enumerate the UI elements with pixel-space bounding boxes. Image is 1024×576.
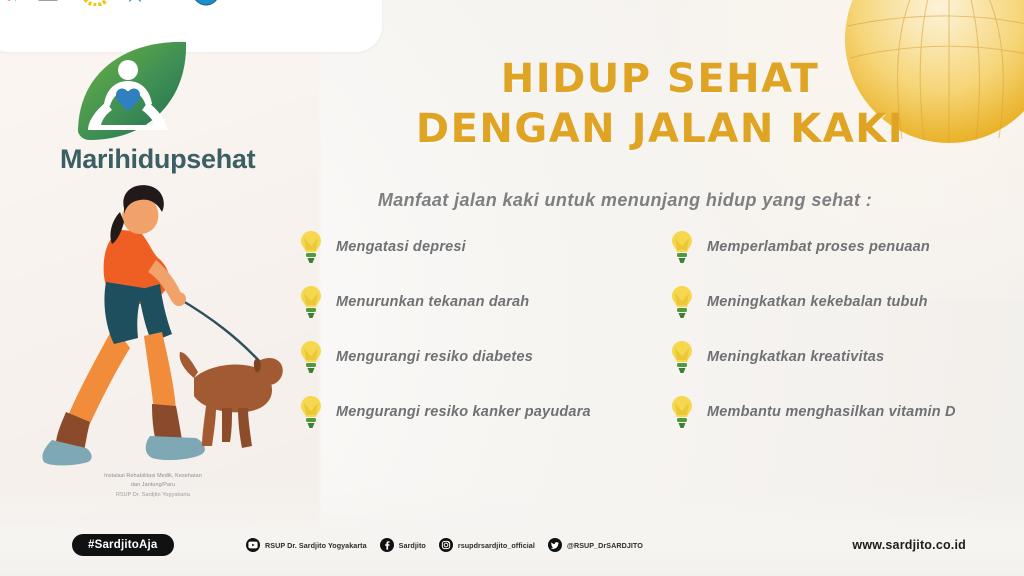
- youtube-icon: [246, 538, 260, 552]
- social-handle: rsupdrsardjito_official: [458, 541, 535, 550]
- berakhlak-logo: [234, 0, 286, 8]
- benefit-label: Menurunkan tekanan darah: [336, 287, 529, 313]
- headline-line-2: DENGAN JALAN KAKI: [360, 108, 960, 150]
- lightbulb-icon: [300, 230, 322, 264]
- lightbulb-icon: [671, 285, 693, 319]
- social-link-twitter[interactable]: @RSUP_DrSARDJITO: [548, 538, 643, 552]
- lightbulb-icon: [300, 340, 322, 374]
- benefit-label: Membantu menghasilkan vitamin D: [707, 397, 956, 423]
- brand-name: Marihidupsehat: [60, 144, 298, 175]
- benefit-label: Meningkatkan kekebalan tubuh: [707, 287, 928, 313]
- benefits-column-left: Mengatasi depresi Menurunkan tekanan dar…: [300, 232, 629, 429]
- partner-logo-row: BLU: [4, 0, 364, 12]
- woman-walking-dog-illustration: [26, 178, 288, 468]
- website-url[interactable]: www.sardjito.co.id: [852, 538, 966, 552]
- benefit-label: Mengatasi depresi: [336, 232, 466, 258]
- benefit-item: Mengatasi depresi: [300, 232, 629, 264]
- lightbulb-icon: [300, 285, 322, 319]
- twitter-icon: [548, 538, 562, 552]
- lightbulb-icon: [671, 230, 693, 264]
- benefits-column-right: Memperlambat proses penuaan Meningkatkan…: [671, 232, 1000, 429]
- blu-circle-logo: BLU: [192, 0, 220, 8]
- benefit-item: Meningkatkan kekebalan tubuh: [671, 287, 1000, 319]
- social-links: RSUP Dr. Sardjito Yogyakarta Sardjito: [246, 538, 643, 552]
- instagram-icon: [439, 538, 453, 552]
- lightbulb-icon: [300, 395, 322, 429]
- lightbulb-icon: [671, 340, 693, 374]
- social-link-instagram[interactable]: rsupdrsardjito_official: [439, 538, 535, 552]
- benefit-item: Menurunkan tekanan darah: [300, 287, 629, 319]
- social-handle: Sardjito: [399, 541, 426, 550]
- social-link-facebook[interactable]: Sardjito: [380, 538, 426, 552]
- benefits-columns: Mengatasi depresi Menurunkan tekanan dar…: [300, 232, 1000, 429]
- benefit-item: Membantu menghasilkan vitamin D: [671, 397, 1000, 429]
- leaf-meditation-heart-icon: [66, 36, 198, 148]
- footer-bar: #SardjitoAja RSUP Dr. Sardjito Yogyakart…: [0, 530, 1024, 560]
- social-handle: @RSUP_DrSARDJITO: [567, 541, 643, 550]
- benefit-label: Meningkatkan kreativitas: [707, 342, 884, 368]
- headline-line-1: HIDUP SEHAT: [360, 58, 960, 100]
- benefit-label: Mengurangi resiko diabetes: [336, 342, 533, 368]
- benefit-item: Mengurangi resiko diabetes: [300, 342, 629, 374]
- benefit-label: Mengurangi resiko kanker payudara: [336, 397, 591, 423]
- blu-ring-logo: [82, 0, 110, 8]
- social-handle: RSUP Dr. Sardjito Yogyakarta: [265, 541, 367, 550]
- credit-line-1: Instalasi Rehabilitasi Medik, Kesehatan: [58, 472, 248, 481]
- benefit-item: Meningkatkan kreativitas: [671, 342, 1000, 374]
- hashtag-badge: #SardjitoAja: [72, 534, 174, 556]
- page-title: HIDUP SEHAT DENGAN JALAN KAKI: [360, 58, 960, 151]
- sehat-negeriku-logo: [124, 0, 178, 8]
- lightbulb-icon: [671, 395, 693, 429]
- benefit-label: Memperlambat proses penuaan: [707, 232, 930, 258]
- brand: Marihidupsehat: [58, 36, 298, 175]
- subtitle: Manfaat jalan kaki untuk menunjang hidup…: [280, 190, 970, 211]
- infographic-poster: BLU: [0, 0, 1024, 576]
- kemenkes-germas-logo: [4, 0, 68, 8]
- benefit-item: Memperlambat proses penuaan: [671, 232, 1000, 264]
- benefit-item: Mengurangi resiko kanker payudara: [300, 397, 629, 429]
- facebook-icon: [380, 538, 394, 552]
- social-link-youtube[interactable]: RSUP Dr. Sardjito Yogyakarta: [246, 538, 367, 552]
